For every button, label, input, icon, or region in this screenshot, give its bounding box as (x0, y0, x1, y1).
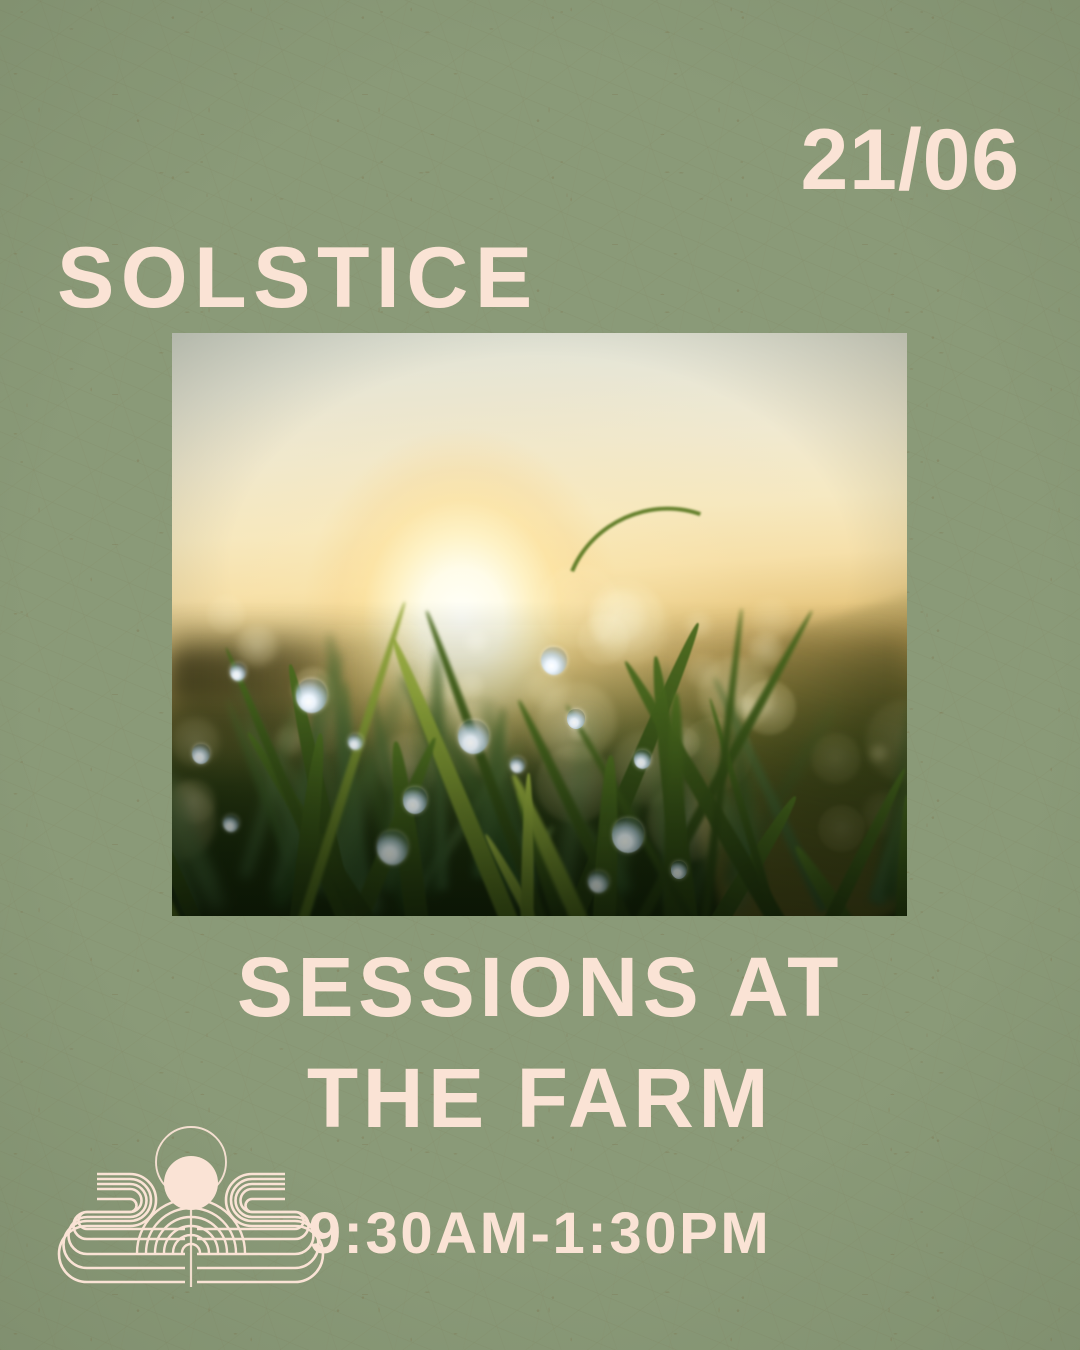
photo-dew-drop (634, 750, 651, 768)
photo-dew-drop (296, 679, 327, 713)
hero-photo (172, 333, 907, 916)
photo-bokeh (818, 805, 865, 852)
photo-dew-drop (377, 831, 408, 865)
photo-dew-drop (612, 818, 644, 853)
poster-canvas: 21/06 SOLSTICE SESSIONS AT THE FARM 9:30… (0, 0, 1080, 1350)
brand-logo (57, 1122, 325, 1302)
headline-line-2: THE FARM (307, 1051, 773, 1145)
page-title: SOLSTICE (57, 235, 539, 321)
photo-bokeh (207, 595, 245, 633)
photo-dew-drop (541, 647, 567, 675)
photo-dew-drop (588, 871, 608, 893)
event-headline: SESSIONS AT THE FARM (0, 932, 1080, 1154)
photo-bokeh (465, 630, 488, 653)
photo-dew-drop (510, 757, 525, 773)
event-date: 21/06 (800, 117, 1020, 203)
photo-bokeh (236, 625, 278, 667)
photo-dew-drop (403, 787, 427, 813)
sun-disc-icon (164, 1156, 218, 1210)
photo-dew-drop (230, 663, 246, 680)
photo-dew-drop (192, 744, 210, 764)
farm-sun-waves-icon (57, 1122, 325, 1302)
headline-line-1: SESSIONS AT (237, 940, 843, 1034)
photo-bokeh (811, 733, 861, 783)
photo-dew-drop (458, 720, 489, 754)
